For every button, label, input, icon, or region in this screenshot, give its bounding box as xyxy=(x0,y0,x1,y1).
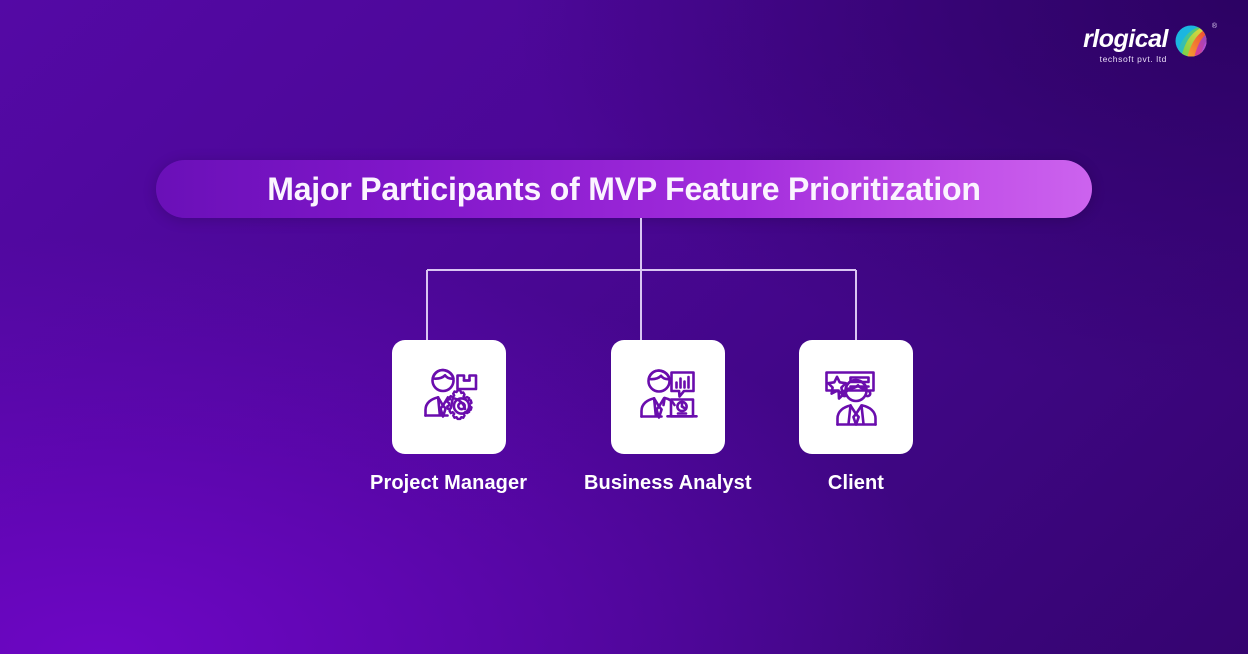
participant-label: Business Analyst xyxy=(584,472,752,495)
participant-node-client[interactable]: Client xyxy=(799,340,913,495)
brand-logo-text: rlogical techsoft pvt. ltd xyxy=(1083,27,1168,64)
project-manager-gear-icon xyxy=(410,358,488,436)
infographic-canvas: rlogical techsoft pvt. ltd xyxy=(0,0,1248,654)
client-feedback-star-icon xyxy=(817,358,895,436)
brand-tagline: techsoft pvt. ltd xyxy=(1100,55,1167,64)
participant-card[interactable] xyxy=(392,340,506,454)
participant-label: Client xyxy=(828,472,884,495)
trademark-symbol: ® xyxy=(1212,23,1217,30)
connector-lines xyxy=(0,0,1248,654)
brand-logo[interactable]: rlogical techsoft pvt. ltd xyxy=(1083,24,1208,67)
business-analyst-chart-icon xyxy=(629,358,707,436)
participant-label: Project Manager xyxy=(370,472,527,495)
participant-card[interactable] xyxy=(799,340,913,454)
diagram-title-banner: Major Participants of MVP Feature Priori… xyxy=(156,160,1092,218)
brand-name: rlogical xyxy=(1083,27,1168,52)
rlogical-gradient-leaf-icon: ® xyxy=(1174,24,1208,58)
participant-card[interactable] xyxy=(611,340,725,454)
participant-node-business-analyst[interactable]: Business Analyst xyxy=(584,340,752,495)
participant-node-project-manager[interactable]: Project Manager xyxy=(370,340,527,495)
page-title: Major Participants of MVP Feature Priori… xyxy=(267,171,981,208)
